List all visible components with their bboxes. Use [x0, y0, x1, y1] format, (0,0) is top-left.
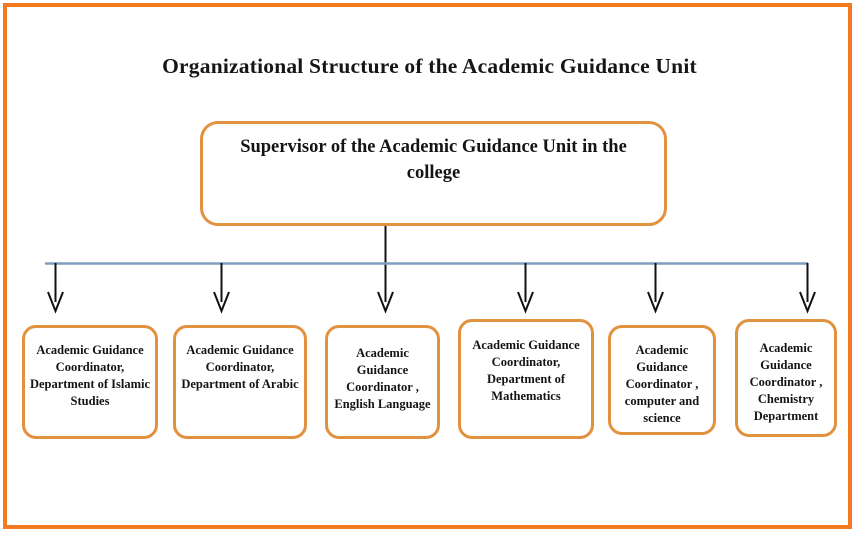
node-coordinator-english-language[interactable]: Academic Guidance Coordinator , English …: [325, 325, 440, 439]
node-coordinator-arabic[interactable]: Academic Guidance Coordinator, Departmen…: [173, 325, 307, 439]
node-coordinator-computer-science[interactable]: Academic Guidance Coordinator , computer…: [608, 325, 716, 435]
node-coordinator-mathematics[interactable]: Academic Guidance Coordinator, Departmen…: [458, 319, 594, 439]
node-coordinator-mathematics-label: Academic Guidance Coordinator, Departmen…: [465, 337, 587, 405]
node-coordinator-islamic-studies-label: Academic Guidance Coordinator, Departmen…: [29, 342, 151, 410]
node-supervisor[interactable]: Supervisor of the Academic Guidance Unit…: [200, 121, 667, 226]
node-coordinator-islamic-studies[interactable]: Academic Guidance Coordinator, Departmen…: [22, 325, 158, 439]
node-supervisor-label: Supervisor of the Academic Guidance Unit…: [227, 134, 640, 186]
page-border-frame: [3, 3, 852, 529]
node-coordinator-english-language-label: Academic Guidance Coordinator , English …: [332, 345, 433, 413]
diagram-title: Organizational Structure of the Academic…: [0, 54, 859, 79]
node-coordinator-computer-science-label: Academic Guidance Coordinator , computer…: [615, 342, 709, 427]
node-coordinator-arabic-label: Academic Guidance Coordinator, Departmen…: [180, 342, 300, 393]
node-coordinator-chemistry[interactable]: Academic Guidance Coordinator , Chemistr…: [735, 319, 837, 437]
diagram-canvas: Organizational Structure of the Academic…: [0, 0, 859, 536]
node-coordinator-chemistry-label: Academic Guidance Coordinator , Chemistr…: [742, 340, 830, 425]
